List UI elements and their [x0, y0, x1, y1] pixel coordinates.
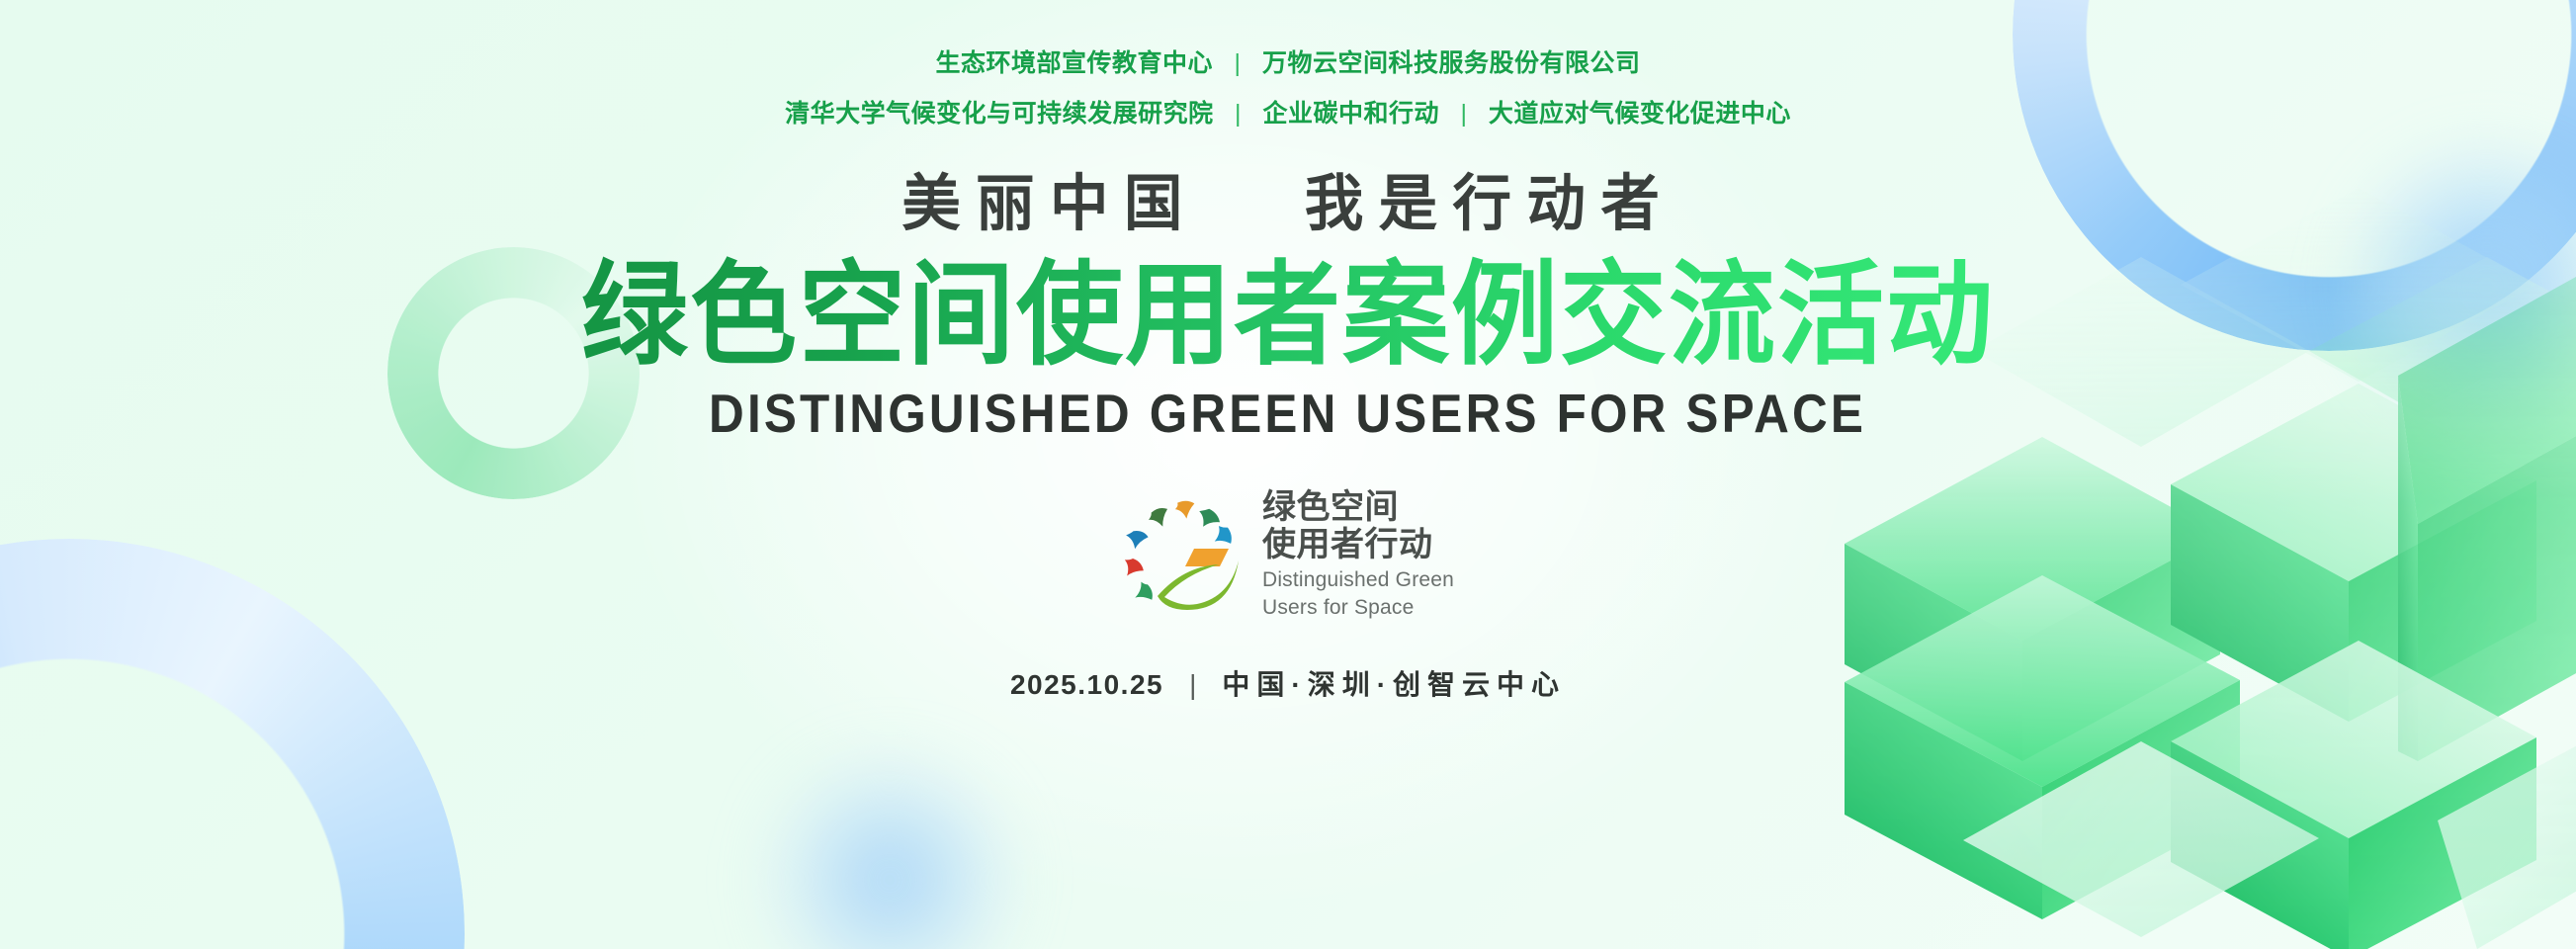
event-footer: 2025.10.25 | 中国·深圳·创智云中心 — [1010, 671, 1566, 699]
organizer-name: 企业碳中和行动 — [1262, 100, 1439, 128]
separator: | — [1446, 102, 1481, 127]
logo-en-line-2: Users for Space — [1262, 596, 1454, 620]
logo-cn-line-2: 使用者行动 — [1262, 526, 1454, 563]
organizer-line-1: 生态环境部宣传教育中心 | 万物云空间科技服务股份有限公司 — [936, 51, 1641, 76]
separator: | — [1221, 102, 1255, 127]
campaign-slogan: 美丽中国 我是行动者 — [902, 174, 1674, 235]
organizer-name: 生态环境部宣传教育中心 — [936, 49, 1214, 77]
green-space-users-logo-icon — [1122, 493, 1245, 616]
separator: | — [1221, 51, 1255, 76]
organizer-line-2: 清华大学气候变化与可持续发展研究院 | 企业碳中和行动 | 大道应对气候变化促进… — [785, 102, 1791, 127]
event-location: 中国·深圳·创智云中心 — [1222, 671, 1566, 699]
page-title: 绿色空间使用者案例交流活动 — [581, 256, 1995, 375]
slogan-part-2: 我是行动者 — [1305, 170, 1674, 238]
organizer-name: 万物云空间科技服务股份有限公司 — [1262, 49, 1641, 77]
page-subtitle-english: DISTINGUISHED GREEN USERS FOR SPACE — [710, 387, 1867, 441]
logo-text-block: 绿色空间 使用者行动 Distinguished Green Users for… — [1262, 488, 1454, 620]
organizer-name: 大道应对气候变化促进中心 — [1489, 100, 1791, 128]
separator: | — [1163, 671, 1222, 699]
slogan-part-1: 美丽中国 — [902, 170, 1198, 238]
program-logo-lockup: 绿色空间 使用者行动 Distinguished Green Users for… — [1122, 488, 1454, 620]
event-date: 2025.10.25 — [1010, 671, 1163, 699]
logo-en-line-1: Distinguished Green — [1262, 568, 1454, 592]
banner-content: 生态环境部宣传教育中心 | 万物云空间科技服务股份有限公司 清华大学气候变化与可… — [0, 0, 2576, 949]
organizer-name: 清华大学气候变化与可持续发展研究院 — [785, 100, 1214, 128]
event-banner: 生态环境部宣传教育中心 | 万物云空间科技服务股份有限公司 清华大学气候变化与可… — [0, 0, 2576, 949]
logo-cn-line-1: 绿色空间 — [1262, 488, 1454, 526]
